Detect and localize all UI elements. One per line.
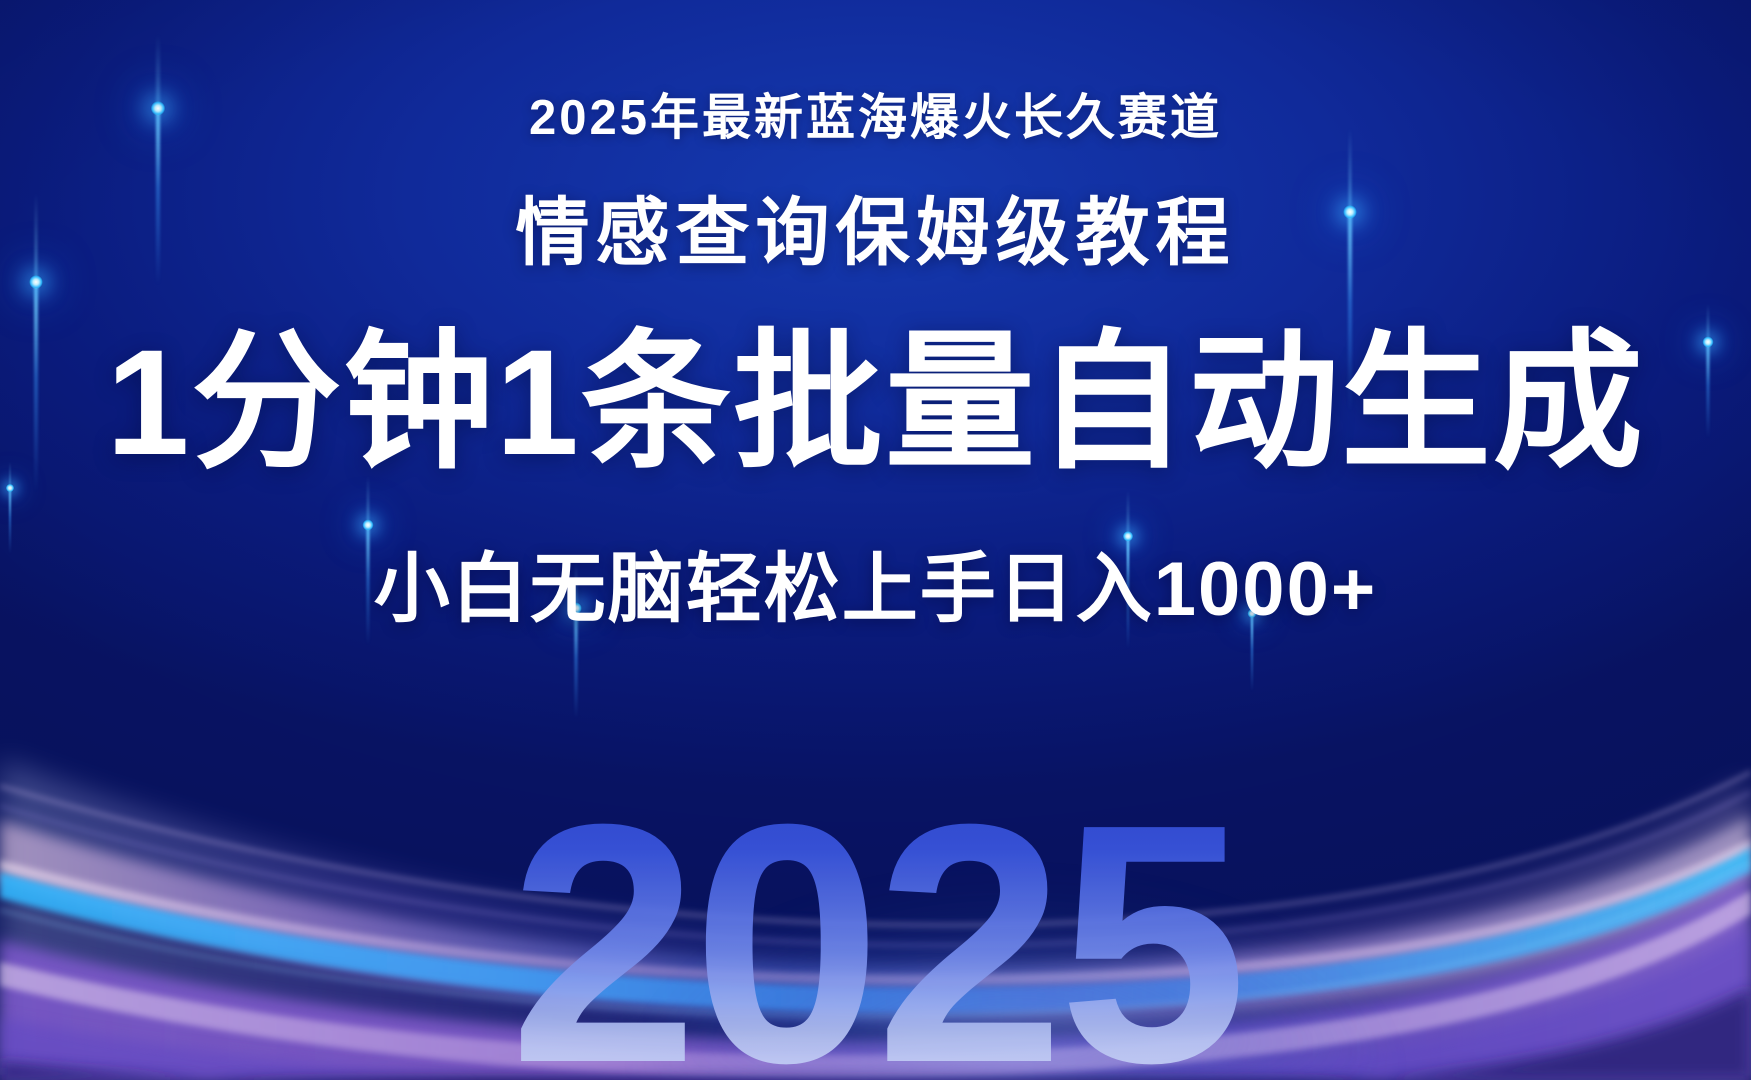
eyebrow-text: 2025年最新蓝海爆火长久赛道	[529, 78, 1222, 149]
promo-poster: 2025 2025年最新蓝海爆火长久赛道 情感查询保姆级教程 1分钟1条批量自动…	[0, 0, 1751, 1080]
headline-text: 1分钟1条批量自动生成	[106, 326, 1645, 479]
tagline-text: 小白无脑轻松上手日入1000+	[374, 527, 1377, 637]
subtitle-text: 情感查询保姆级教程	[516, 173, 1236, 280]
headline-stack: 2025年最新蓝海爆火长久赛道 情感查询保姆级教程 1分钟1条批量自动生成 小白…	[0, 0, 1751, 1080]
